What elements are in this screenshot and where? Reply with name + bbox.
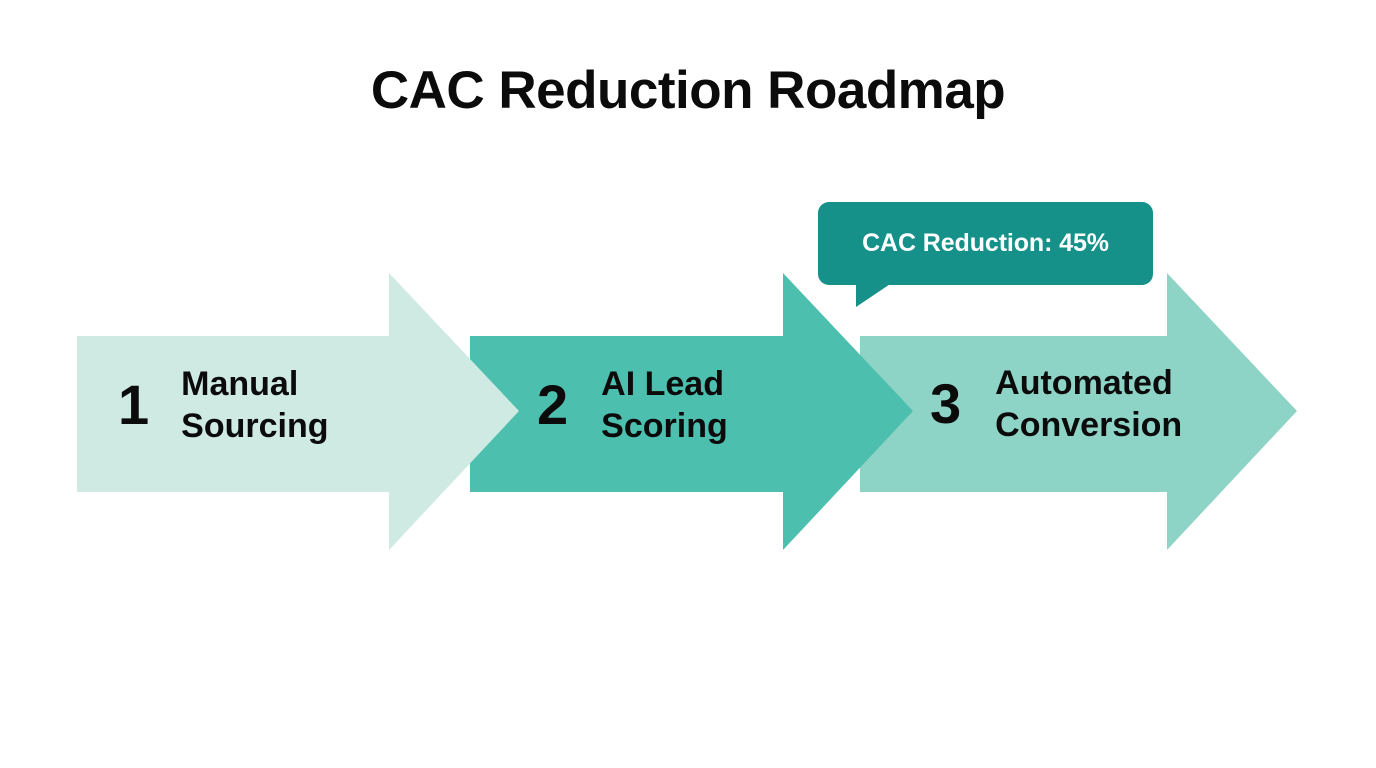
callout-bubble[interactable] bbox=[818, 202, 1153, 285]
step-2-arrow[interactable] bbox=[470, 273, 913, 550]
step-1-arrow[interactable] bbox=[77, 273, 519, 550]
roadmap-canvas: CAC Reduction Roadmap 1 Manual Sourcing … bbox=[0, 0, 1376, 768]
roadmap-arrow-group bbox=[0, 0, 1376, 768]
step-3-arrow[interactable] bbox=[860, 273, 1297, 550]
